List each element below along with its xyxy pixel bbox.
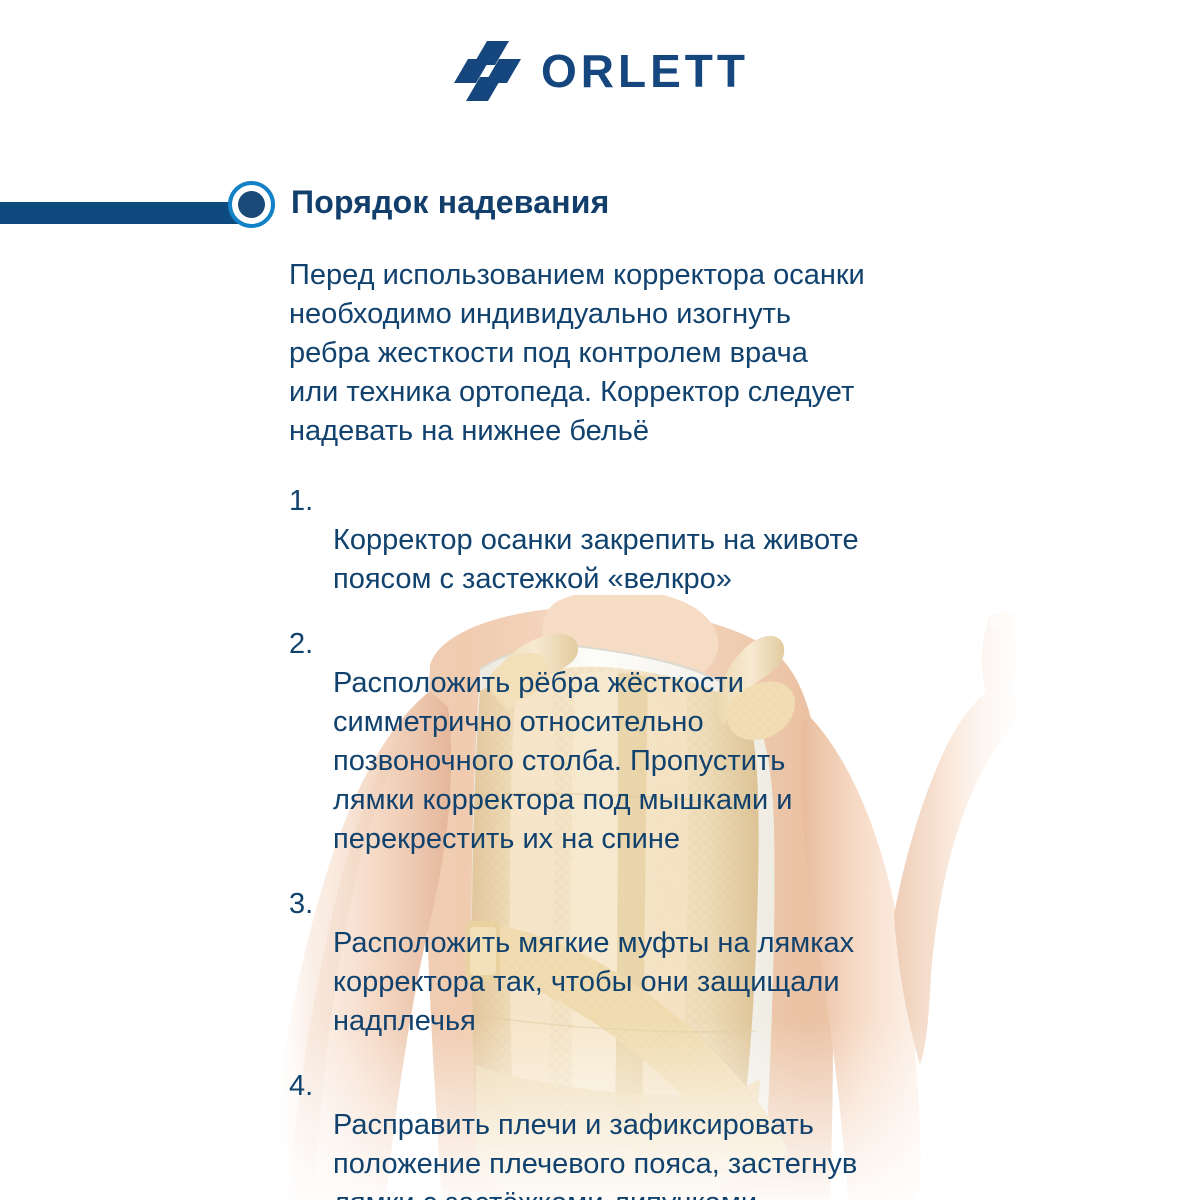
steps-list: 1.Корректор осанки закрепить на животе п… xyxy=(289,482,1049,1200)
list-item: 4.Расправить плечи и зафиксировать полож… xyxy=(289,1067,1049,1200)
step-number: 1. xyxy=(289,482,327,521)
list-item: 2.Расположить рёбра жёсткости симметричн… xyxy=(289,625,1049,859)
step-text: Корректор осанки закрепить на животе поя… xyxy=(333,524,859,595)
brand-logo: ORLETT xyxy=(0,40,1200,102)
orlett-cross-logo-icon xyxy=(451,40,523,102)
list-item: 3.Расположить мягкие муфты на лямках кор… xyxy=(289,885,1049,1041)
instructions-content: Перед использованием корректора осанки н… xyxy=(289,256,1049,1200)
step-text: Расположить мягкие муфты на лямках корре… xyxy=(333,927,854,1037)
step-number: 2. xyxy=(289,625,327,664)
step-number: 3. xyxy=(289,885,327,924)
step-text: Расправить плечи и зафиксировать положен… xyxy=(333,1109,857,1200)
step-text: Расположить рёбра жёсткости симметрично … xyxy=(333,667,793,855)
page-title: Порядок надевания xyxy=(291,184,609,221)
brand-name: ORLETT xyxy=(541,48,749,94)
heading-bullet-dot xyxy=(238,191,265,218)
step-number: 4. xyxy=(289,1067,327,1106)
list-item: 1.Корректор осанки закрепить на животе п… xyxy=(289,482,1049,599)
intro-paragraph: Перед использованием корректора осанки н… xyxy=(289,256,1049,451)
heading-rule xyxy=(0,202,252,224)
poster-page: ORLETT Порядок надевания Перед использов… xyxy=(0,0,1200,1200)
